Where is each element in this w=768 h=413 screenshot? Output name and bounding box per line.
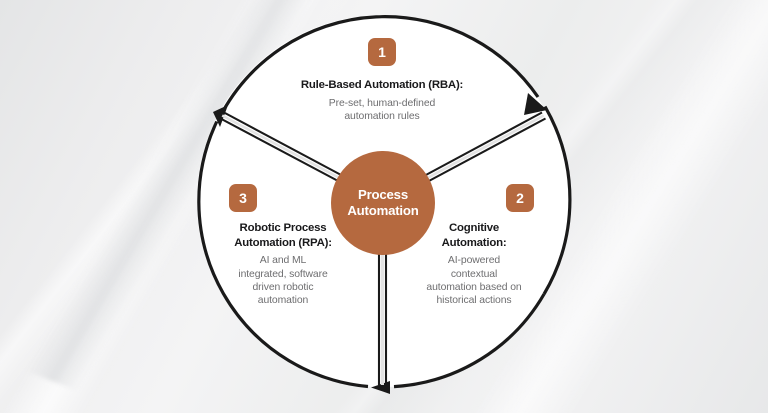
segment-1-title: Rule-Based Automation (RBA): xyxy=(268,78,496,93)
segment-badge-2[interactable]: 2 xyxy=(506,184,534,212)
segment-2-description: AI-powered contextual automation based o… xyxy=(406,254,542,307)
segment-3-desc-line-1: AI and ML xyxy=(260,255,306,266)
center-hub: Process Automation xyxy=(331,151,435,255)
segment-1-desc-line-1: Pre-set, human-defined xyxy=(329,98,435,109)
segment-3-description: AI and ML integrated, software driven ro… xyxy=(207,254,359,307)
segment-3-desc-line-4: automation xyxy=(258,295,308,306)
segment-1-text-block: Rule-Based Automation (RBA): Pre-set, hu… xyxy=(268,78,496,123)
center-hub-line-1: Process xyxy=(358,187,408,203)
segment-2-text-block: Cognitive Automation: AI-powered context… xyxy=(406,221,542,307)
segment-2-desc-line-1: AI-powered xyxy=(448,255,500,266)
segment-badge-1[interactable]: 1 xyxy=(368,38,396,66)
segment-1-desc-line-2: automation rules xyxy=(344,111,419,122)
segment-2-desc-line-4: historical actions xyxy=(436,295,511,306)
segment-1-description: Pre-set, human-defined automation rules xyxy=(268,97,496,124)
center-hub-line-2: Automation xyxy=(347,203,418,219)
segment-3-title-line-1: Robotic Process xyxy=(240,222,327,234)
segment-2-desc-line-2: contextual xyxy=(451,269,497,280)
spoke-divider-bottom xyxy=(379,245,386,385)
segment-3-desc-line-2: integrated, software xyxy=(238,269,327,280)
segment-2-desc-line-3: automation based on xyxy=(426,282,521,293)
segment-2-title-line-1: Cognitive xyxy=(449,222,499,234)
segment-2-title-line-2: Automation: xyxy=(442,237,507,249)
segment-3-title-line-2: Automation (RPA): xyxy=(234,237,332,249)
segment-3-text-block: Robotic Process Automation (RPA): AI and… xyxy=(207,221,359,307)
diagram-canvas: Process Automation 1 2 3 Rule-Based Auto… xyxy=(0,0,768,413)
segment-3-desc-line-3: driven robotic xyxy=(253,282,314,293)
segment-badge-3[interactable]: 3 xyxy=(229,184,257,212)
